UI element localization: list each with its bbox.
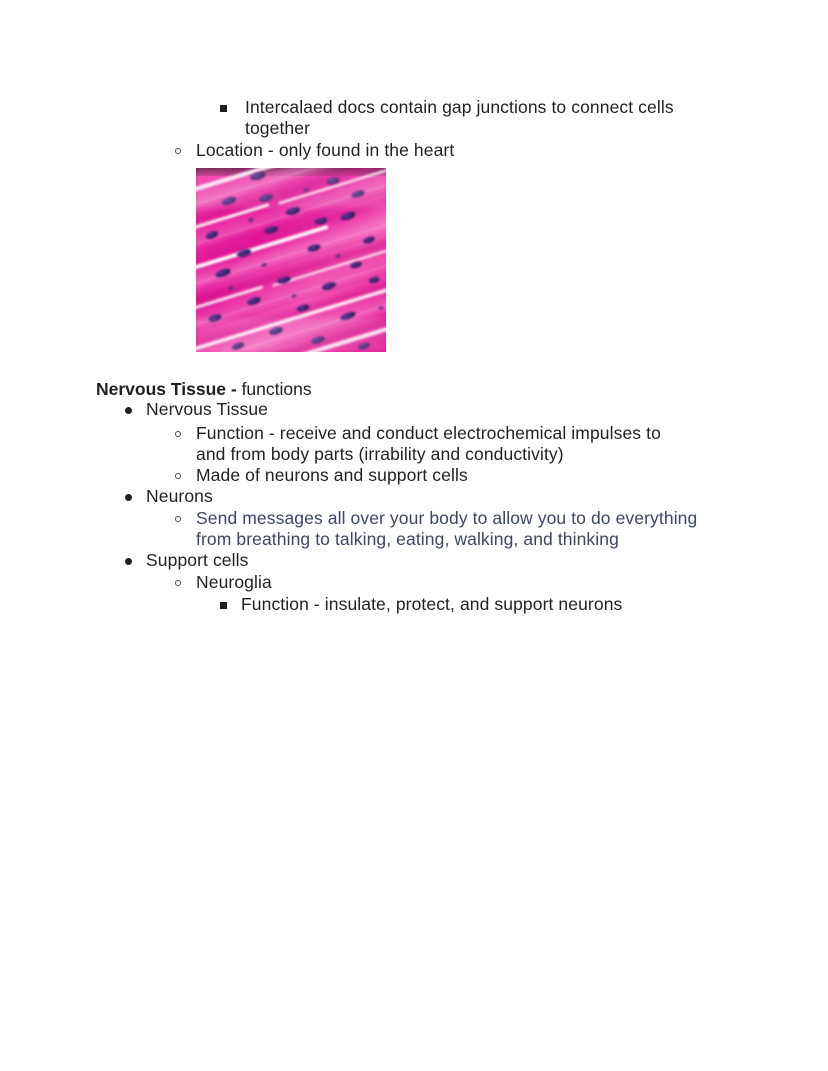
bullet-circle-neuroglia: [175, 580, 181, 586]
bullet-circle-nervous-function: [175, 431, 181, 437]
page-title-regular: functions: [237, 379, 312, 399]
list-item-nervous-tissue: Nervous Tissue: [146, 399, 268, 421]
list-item-nervous-function-line-2: and from body parts (irrability and cond…: [196, 444, 756, 466]
list-item-made-of-neurons: Made of neurons and support cells: [196, 465, 468, 487]
list-item-support-cells: Support cells: [146, 550, 248, 572]
page-title-nervous-tissue: Nervous Tissue - functions: [96, 379, 312, 401]
page-title-bold: Nervous Tissue -: [96, 379, 237, 399]
list-item-neuroglia: Neuroglia: [196, 572, 272, 594]
bullet-square-neuroglia-function: [220, 602, 227, 609]
bullet-disc-nervous-tissue: [125, 407, 132, 414]
bullet-disc-neurons: [125, 494, 132, 501]
cardiac-muscle-svg: [196, 168, 386, 352]
bullet-circle-location: [175, 148, 181, 154]
list-item-send-messages-line-1: Send messages all over your body to allo…: [196, 508, 776, 530]
cardiac-muscle-micrograph-image: [196, 168, 386, 352]
list-item-intercalated-discs-line-2: together: [245, 118, 765, 140]
document-page: Intercalaed docs contain gap junctions t…: [0, 0, 828, 1071]
bullet-circle-send-messages: [175, 516, 181, 522]
list-item-neurons: Neurons: [146, 486, 213, 508]
bullet-circle-made-of-neurons: [175, 473, 181, 479]
list-item-neuroglia-function: Function - insulate, protect, and suppor…: [241, 594, 622, 616]
list-item-location-heart: Location - only found in the heart: [196, 140, 736, 162]
list-item-send-messages-line-2: from breathing to talking, eating, walki…: [196, 529, 776, 551]
bullet-square-intercalated-discs: [220, 105, 227, 112]
list-item-intercalated-discs-line-1: Intercalaed docs contain gap junctions t…: [245, 97, 765, 119]
bullet-disc-support-cells: [125, 558, 132, 565]
list-item-nervous-function-line-1: Function - receive and conduct electroch…: [196, 423, 756, 445]
